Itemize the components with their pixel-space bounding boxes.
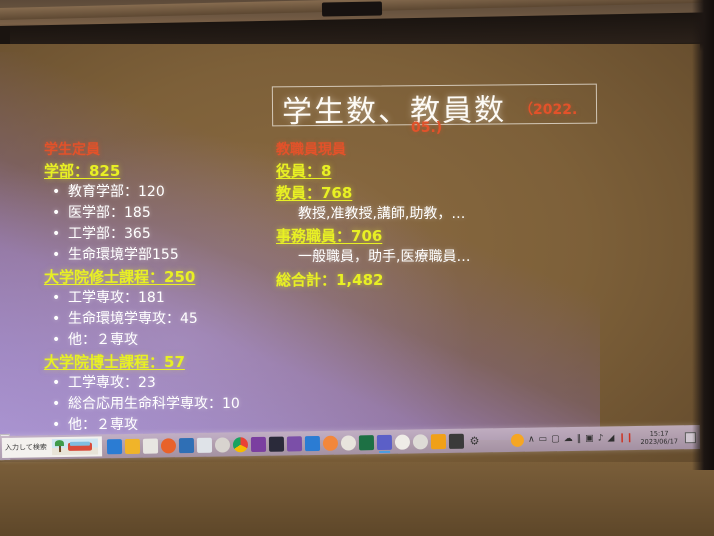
bullet-dot: •	[52, 394, 68, 415]
list-item: •生命環境学部155	[44, 245, 294, 266]
clock-date: 2023/06/17	[640, 437, 678, 446]
weather-sun-icon[interactable]	[511, 433, 524, 446]
list-item-label: 総合応用生命科学専攻：10	[68, 396, 240, 412]
firefox-icon[interactable]	[161, 438, 176, 453]
bullet-dot: •	[52, 203, 68, 224]
cloud-icon[interactable]: ☁	[564, 435, 573, 444]
ceiling-fixture	[322, 1, 382, 16]
bullet-dot: •	[52, 373, 68, 394]
palm-tree-icon	[55, 440, 64, 452]
left-section-1-label: 学部：825	[44, 160, 294, 182]
right-section-2-label: 教員：768	[276, 182, 586, 204]
camera-icon[interactable]	[413, 434, 428, 449]
settings-gear-icon[interactable]: ⚙	[467, 433, 482, 448]
presentation-slide: 学生数、教員数 （2022. 05.) 学生定員 学部：825 •教育学部：12…	[0, 52, 600, 440]
list-item: •工学専攻：23	[44, 373, 294, 394]
compass-icon[interactable]	[215, 437, 230, 452]
clock-icon[interactable]	[395, 434, 410, 449]
list-item: •教育学部：120	[44, 182, 294, 203]
list-item: •生命環境学専攻：45	[44, 309, 294, 330]
wifi-icon[interactable]: ◢	[607, 434, 614, 443]
list-item-label: 生命環境学部155	[68, 247, 179, 263]
search-thumbnail-icon	[52, 438, 98, 455]
right-section-3-label: 事務職員：706	[276, 225, 586, 247]
wall-below-screen	[0, 462, 714, 536]
search-placeholder: 入力して検索	[5, 442, 47, 453]
list-item-label: 工学部：365	[68, 226, 151, 242]
left-column-heading: 学生定員	[44, 140, 294, 160]
display-icon[interactable]: ▭	[539, 435, 548, 444]
system-tray: ∧ ▭ ▢ ☁ ‖ ▣ ♪ ◢ ❙❙ 15:17 2023/06/17	[511, 429, 700, 448]
left-column: 学生定員 学部：825 •教育学部：120 •医学部：185 •工学部：365 …	[44, 140, 294, 440]
window-icon[interactable]	[179, 437, 194, 452]
bullet-dot: •	[52, 224, 68, 245]
slide-title-note-line1: （2022.	[519, 99, 577, 119]
chrome-icon[interactable]	[233, 437, 248, 452]
list-item-label: 工学専攻：23	[68, 375, 156, 391]
teams-icon[interactable]	[377, 434, 392, 449]
chevron-up-icon[interactable]: ∧	[528, 435, 535, 444]
bullet-dot: •	[52, 309, 68, 330]
right-column: 教職員現員 役員：8 教員：768 教授,准教授,講師,助教，… 事務職員：70…	[276, 140, 586, 292]
right-section-1-label: 役員：8	[276, 160, 586, 182]
skype-icon[interactable]	[323, 435, 338, 450]
left-section-2-label: 大学院修士課程：250	[44, 266, 294, 288]
sticky-notes-icon[interactable]	[431, 433, 446, 448]
list-item: •医学部：185	[44, 203, 294, 224]
taskbar-clock[interactable]: 15:17 2023/06/17	[637, 429, 681, 446]
battery-icon[interactable]: ❙❙	[618, 434, 633, 443]
slide-title: 学生数、教員数	[282, 85, 506, 131]
onenote-icon[interactable]	[251, 436, 266, 451]
shield-icon[interactable]: ▢	[551, 435, 560, 444]
file-explorer-icon[interactable]	[125, 438, 140, 453]
right-section-3-detail: 一般職員，助手,医療職員…	[276, 247, 586, 268]
ime-icon[interactable]: ▣	[585, 434, 594, 443]
outlook-icon[interactable]	[341, 435, 356, 450]
vscode-icon[interactable]	[305, 435, 320, 450]
mail-icon[interactable]	[107, 439, 122, 454]
right-column-total: 総合計：1,482	[276, 268, 586, 292]
screen-bezel-right	[692, 0, 714, 470]
list-item: •工学専攻：181	[44, 288, 294, 309]
list-item-label: 他：２専攻	[68, 417, 138, 433]
list-item-label: 生命環境学専攻：45	[68, 311, 198, 327]
list-item-label: 医学部：185	[68, 205, 151, 221]
taskbar-icon-group: ⚙	[107, 433, 482, 454]
viber-icon[interactable]	[287, 436, 302, 451]
right-column-heading: 教職員現員	[276, 140, 586, 160]
list-item: •他：２専攻	[44, 330, 294, 351]
list-item-label: 他：２専攻	[68, 332, 138, 348]
list-item: •工学部：365	[44, 224, 294, 245]
microphone-icon[interactable]: ‖	[577, 434, 582, 443]
search-input[interactable]: 入力して検索	[2, 436, 102, 458]
projector-photo: 学生数、教員数 （2022. 05.) 学生定員 学部：825 •教育学部：12…	[0, 0, 714, 536]
moon-icon[interactable]	[269, 436, 284, 451]
left-section-3-label: 大学院博士課程：57	[44, 351, 294, 373]
bullet-dot: •	[52, 415, 68, 436]
bullet-dot: •	[52, 245, 68, 266]
store-icon[interactable]	[143, 438, 158, 453]
notepad-icon[interactable]	[197, 437, 212, 452]
list-item-label: 工学専攻：181	[68, 290, 165, 306]
bullet-dot: •	[52, 288, 68, 309]
excel-icon[interactable]	[359, 435, 374, 450]
bullet-dot: •	[52, 330, 68, 351]
photos-icon[interactable]	[449, 433, 464, 448]
right-section-2-detail: 教授,准教授,講師,助教，…	[276, 204, 586, 225]
bullet-dot: •	[52, 182, 68, 203]
list-item-label: 教育学部：120	[68, 184, 165, 200]
slide-title-note-line2: 05.)	[411, 120, 442, 136]
volume-icon[interactable]: ♪	[598, 434, 604, 443]
list-item: •総合応用生命科学専攻：10	[44, 394, 294, 415]
